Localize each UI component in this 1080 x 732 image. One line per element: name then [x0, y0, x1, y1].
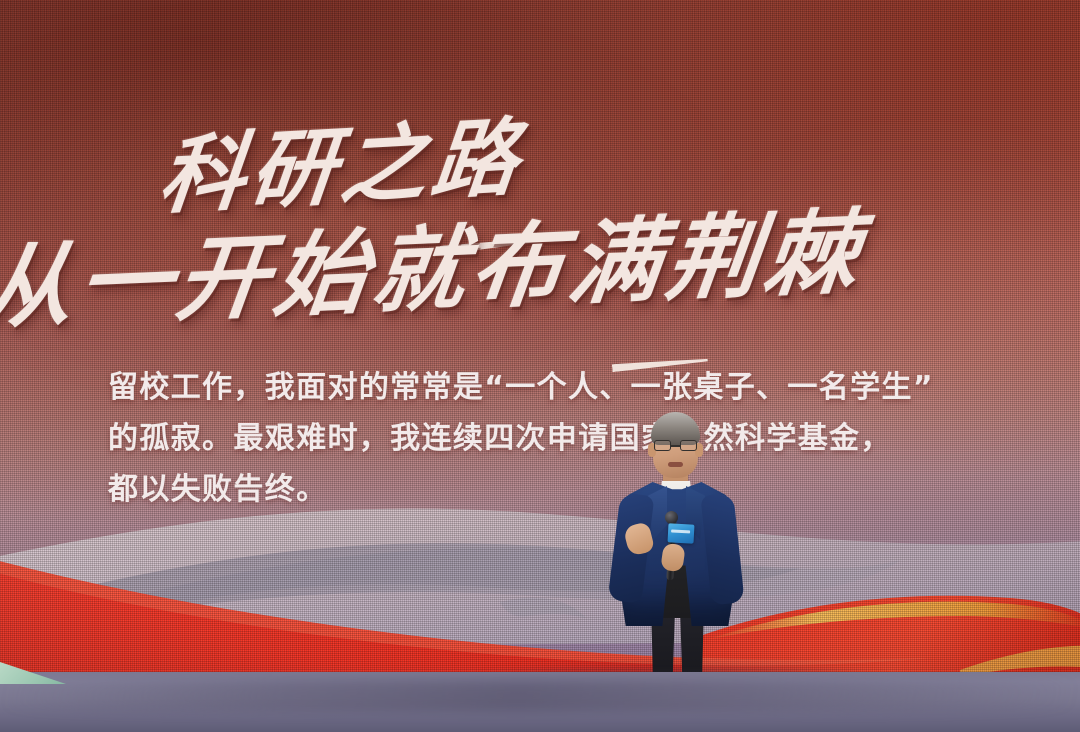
led-vignette	[0, 0, 1080, 680]
stage-scene: 科研之路 从一开始就布满荆棘 留校工作，我面对的常常是“一个人、一张桌子、一名学…	[0, 0, 1080, 732]
glasses-icon	[654, 440, 697, 451]
stage-floor-shadow-band	[0, 678, 1080, 712]
microphone-capsule-icon	[665, 511, 678, 524]
microphone-flag-badge	[668, 523, 695, 543]
speaker-mouth	[668, 462, 683, 467]
